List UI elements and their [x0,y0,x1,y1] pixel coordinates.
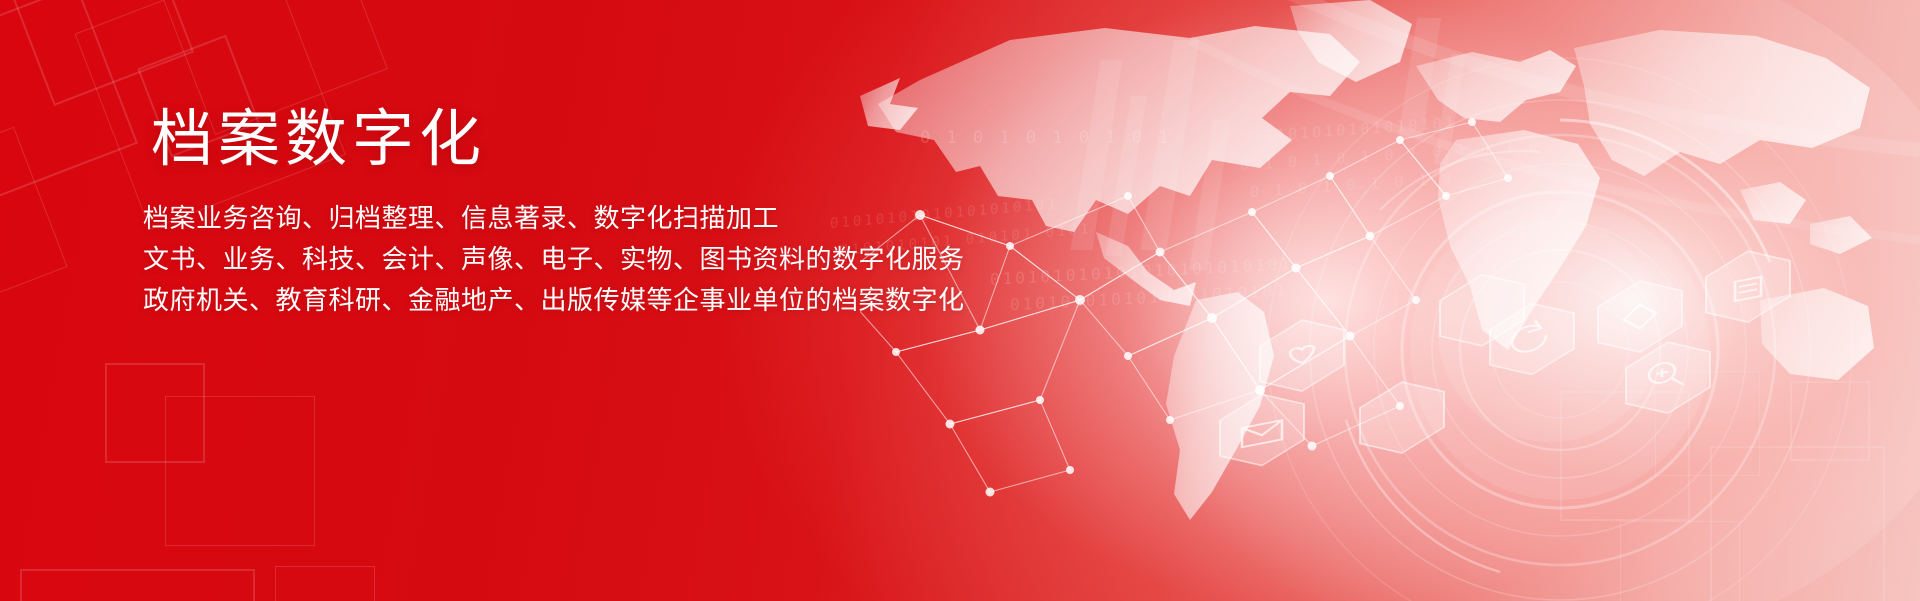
banner-subtitle-line-1: 档案业务咨询、归档整理、信息著录、数字化扫描加工 [143,198,963,239]
banner-copy: 档案数字化 档案业务咨询、归档整理、信息著录、数字化扫描加工 文书、业务、科技、… [143,105,963,321]
banner-title: 档案数字化 [151,105,963,174]
banner-subtitle-line-3: 政府机关、教育科研、金融地产、出版传媒等企事业单位的档案数字化 [143,280,963,321]
banner-subtitle-list: 档案业务咨询、归档整理、信息著录、数字化扫描加工 文书、业务、科技、会计、声像、… [143,198,963,321]
decor-squares-bottom-left [20,351,360,601]
tech-globe-graphic: 0 1 0 1 0 1 0 1 0 1 0101010101010101 0 1… [860,0,1920,601]
banner-subtitle-line-2: 文书、业务、科技、会计、声像、电子、实物、图书资料的数字化服务 [143,239,963,280]
hero-banner: 0 1 0 1 0 1 0 1 0 1 0101010101010101 0 1… [0,0,1920,601]
